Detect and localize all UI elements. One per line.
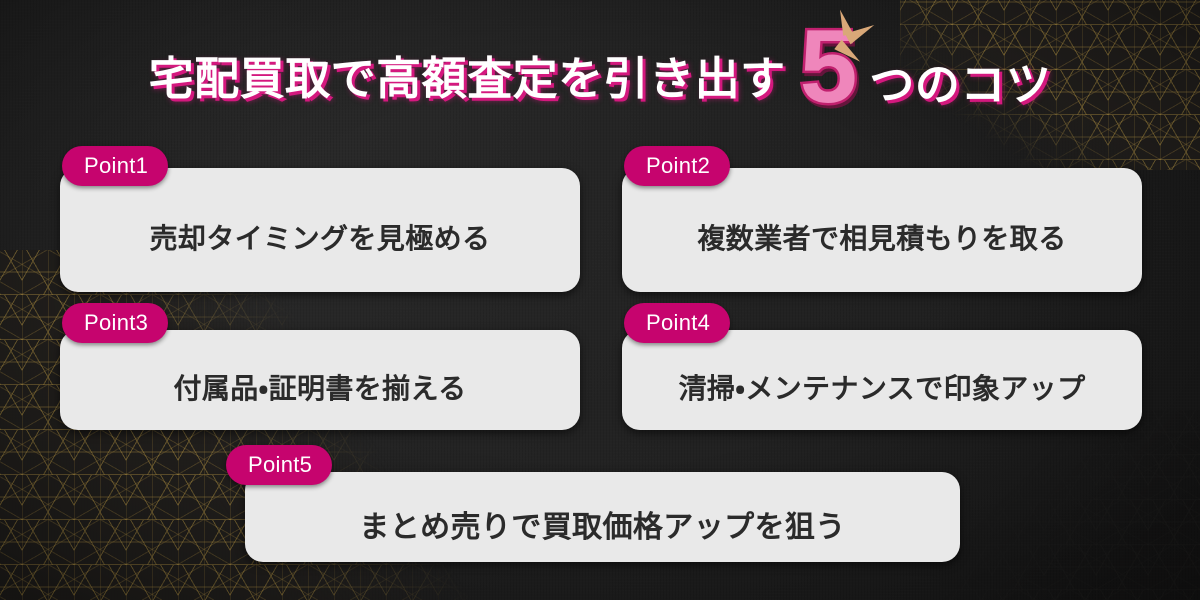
title-main-text: 宅配買取で高額査定を引き出す — [149, 42, 786, 107]
point-card-5: まとめ売りで買取価格アップを狙う — [245, 472, 960, 562]
infographic-canvas: 宅配買取で高額査定を引き出す 5 つのコツ 売却タイミングを見極める Point… — [0, 0, 1200, 600]
point-card-1-text: 売却タイミングを見極める — [136, 217, 505, 257]
title-tail-text: つのコツ — [869, 48, 1051, 113]
point-badge-4: Point4 — [624, 303, 730, 343]
point-badge-5-label: Point5 — [248, 452, 312, 478]
point-card-2: 複数業者で相見積もりを取る — [622, 168, 1142, 292]
point-card-3: 付属品・証明書を揃える — [60, 330, 580, 430]
point-badge-1-label: Point1 — [84, 153, 148, 179]
point-badge-3-label: Point3 — [84, 310, 148, 336]
point-card-2-text: 複数業者で相見積もりを取る — [683, 217, 1080, 257]
title-number-group: 5 — [800, 21, 856, 115]
point-badge-3: Point3 — [62, 303, 168, 343]
point-badge-5: Point5 — [226, 445, 332, 485]
point-card-5-text: まとめ売りで買取価格アップを狙う — [345, 502, 859, 546]
title-number: 5 — [800, 21, 856, 115]
point-badge-1: Point1 — [62, 146, 168, 186]
point-badge-2-label: Point2 — [646, 153, 710, 179]
point-card-4-text: 清掃・メンテナンスで印象アップ — [665, 367, 1100, 407]
point-card-3-text: 付属品・証明書を揃える — [159, 367, 480, 407]
page-title: 宅配買取で高額査定を引き出す 5 つのコツ — [0, 18, 1200, 110]
point-badge-4-label: Point4 — [646, 310, 710, 336]
point-card-4: 清掃・メンテナンスで印象アップ — [622, 330, 1142, 430]
point-card-1: 売却タイミングを見極める — [60, 168, 580, 292]
asanoha-pattern-bottom-right — [940, 410, 1200, 600]
point-badge-2: Point2 — [624, 146, 730, 186]
